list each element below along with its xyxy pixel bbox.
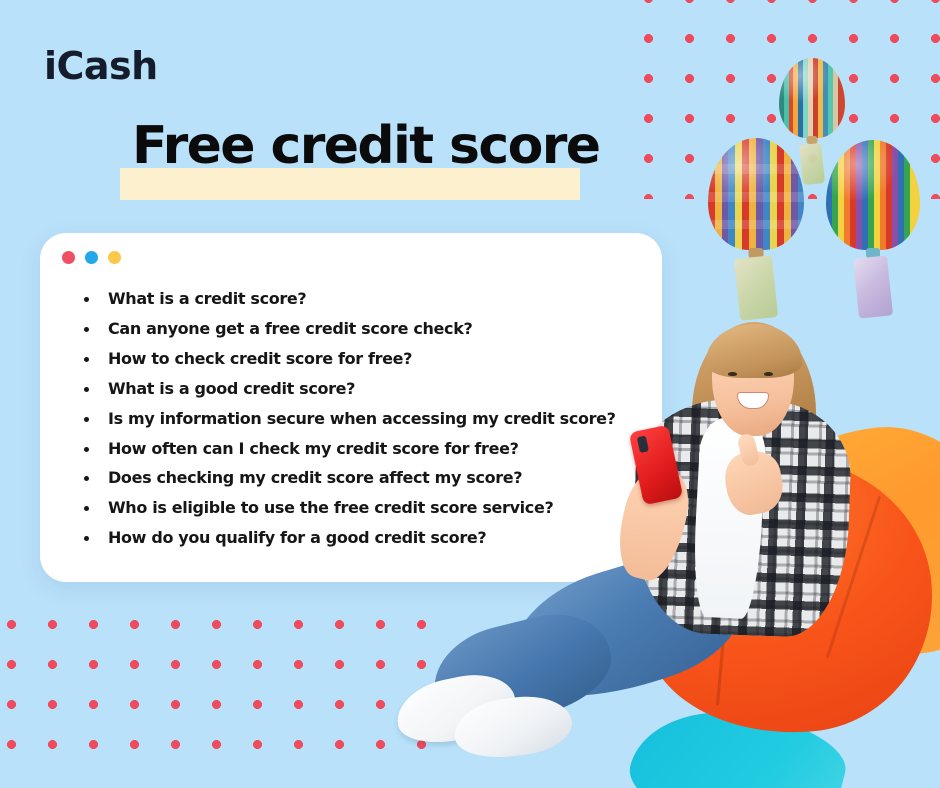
close-dot-icon[interactable] xyxy=(62,251,75,264)
balloon-band xyxy=(708,220,804,229)
balloon-band xyxy=(708,192,804,202)
brand-logo[interactable]: iCash xyxy=(44,44,158,88)
list-item[interactable]: Does checking my credit score affect my … xyxy=(80,469,644,487)
eye-left xyxy=(728,372,737,376)
phone-camera-icon xyxy=(637,436,649,454)
list-item[interactable]: Who is eligible to use the free credit s… xyxy=(80,499,644,517)
balloon-envelope xyxy=(779,58,845,138)
hot-air-balloon-right-icon xyxy=(826,140,920,250)
list-item[interactable]: What is a good credit score? xyxy=(80,380,644,398)
list-item[interactable]: What is a credit score? xyxy=(80,290,644,308)
balloon-band xyxy=(708,164,804,174)
list-item[interactable]: How often can I check my credit score fo… xyxy=(80,440,644,458)
list-item[interactable]: How to check credit score for free? xyxy=(80,350,644,368)
hot-air-balloon-top-icon xyxy=(779,58,845,138)
page-title: Free credit score xyxy=(120,118,599,174)
hair-front xyxy=(706,324,802,378)
list-item[interactable]: How do you qualify for a good credit sco… xyxy=(80,529,644,547)
faq-list: What is a credit score? Can anyone get a… xyxy=(80,290,644,559)
maximize-dot-icon[interactable] xyxy=(108,251,121,264)
faq-card: What is a credit score? Can anyone get a… xyxy=(40,233,662,582)
minimize-dot-icon[interactable] xyxy=(85,251,98,264)
list-item[interactable]: Is my information secure when accessing … xyxy=(80,410,644,428)
window-controls xyxy=(62,251,121,264)
hero-heading-group: Free credit score xyxy=(120,118,599,204)
balloon-envelope xyxy=(826,140,920,250)
eye-right xyxy=(764,372,773,376)
dot-pattern-bottom-left xyxy=(7,620,427,770)
list-item[interactable]: Can anyone get a free credit score check… xyxy=(80,320,644,338)
hot-air-balloon-left-icon xyxy=(708,138,804,250)
hero-illustration xyxy=(614,300,940,788)
poster-canvas: iCash Free credit score What is a credit… xyxy=(0,0,940,788)
balloon-envelope xyxy=(708,138,804,250)
